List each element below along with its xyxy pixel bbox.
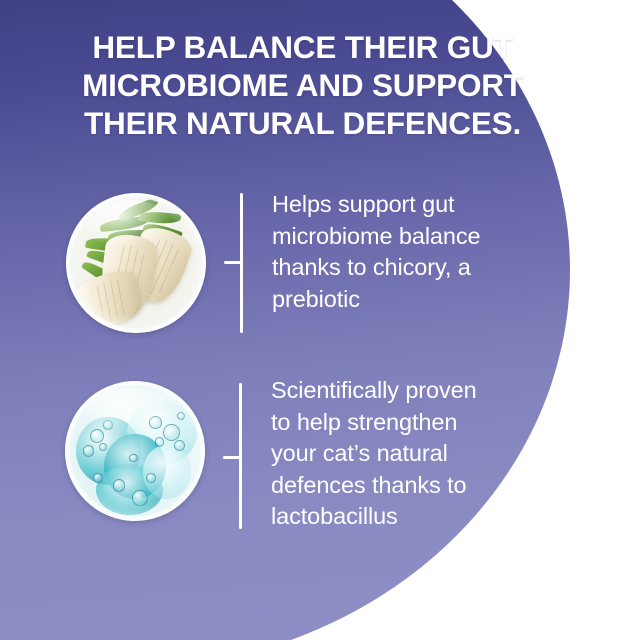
divider-tick-mark — [223, 456, 242, 459]
feature-text-lactobacillus: Scientifically proven to help strengthen… — [259, 375, 477, 533]
page-title: HELP BALANCE THEIR GUT MICROBIOME AND SU… — [40, 28, 565, 142]
feature-text-chicory: Helps support gut microbiome balance tha… — [260, 189, 481, 315]
feature-divider-rule — [222, 193, 260, 333]
feature-row-lactobacillus: Scientifically proven to help strengthen… — [65, 381, 477, 533]
feature-row-chicory: Helps support gut microbiome balance tha… — [66, 193, 481, 333]
feature-divider-rule — [221, 383, 259, 529]
petri-dish-lactobacillus-bubbles-icon — [65, 381, 205, 521]
infographic-panel: HELP BALANCE THEIR GUT MICROBIOME AND SU… — [0, 0, 640, 640]
petri-dish-chicory-roots-icon — [66, 193, 206, 333]
divider-tick-mark — [224, 261, 243, 264]
